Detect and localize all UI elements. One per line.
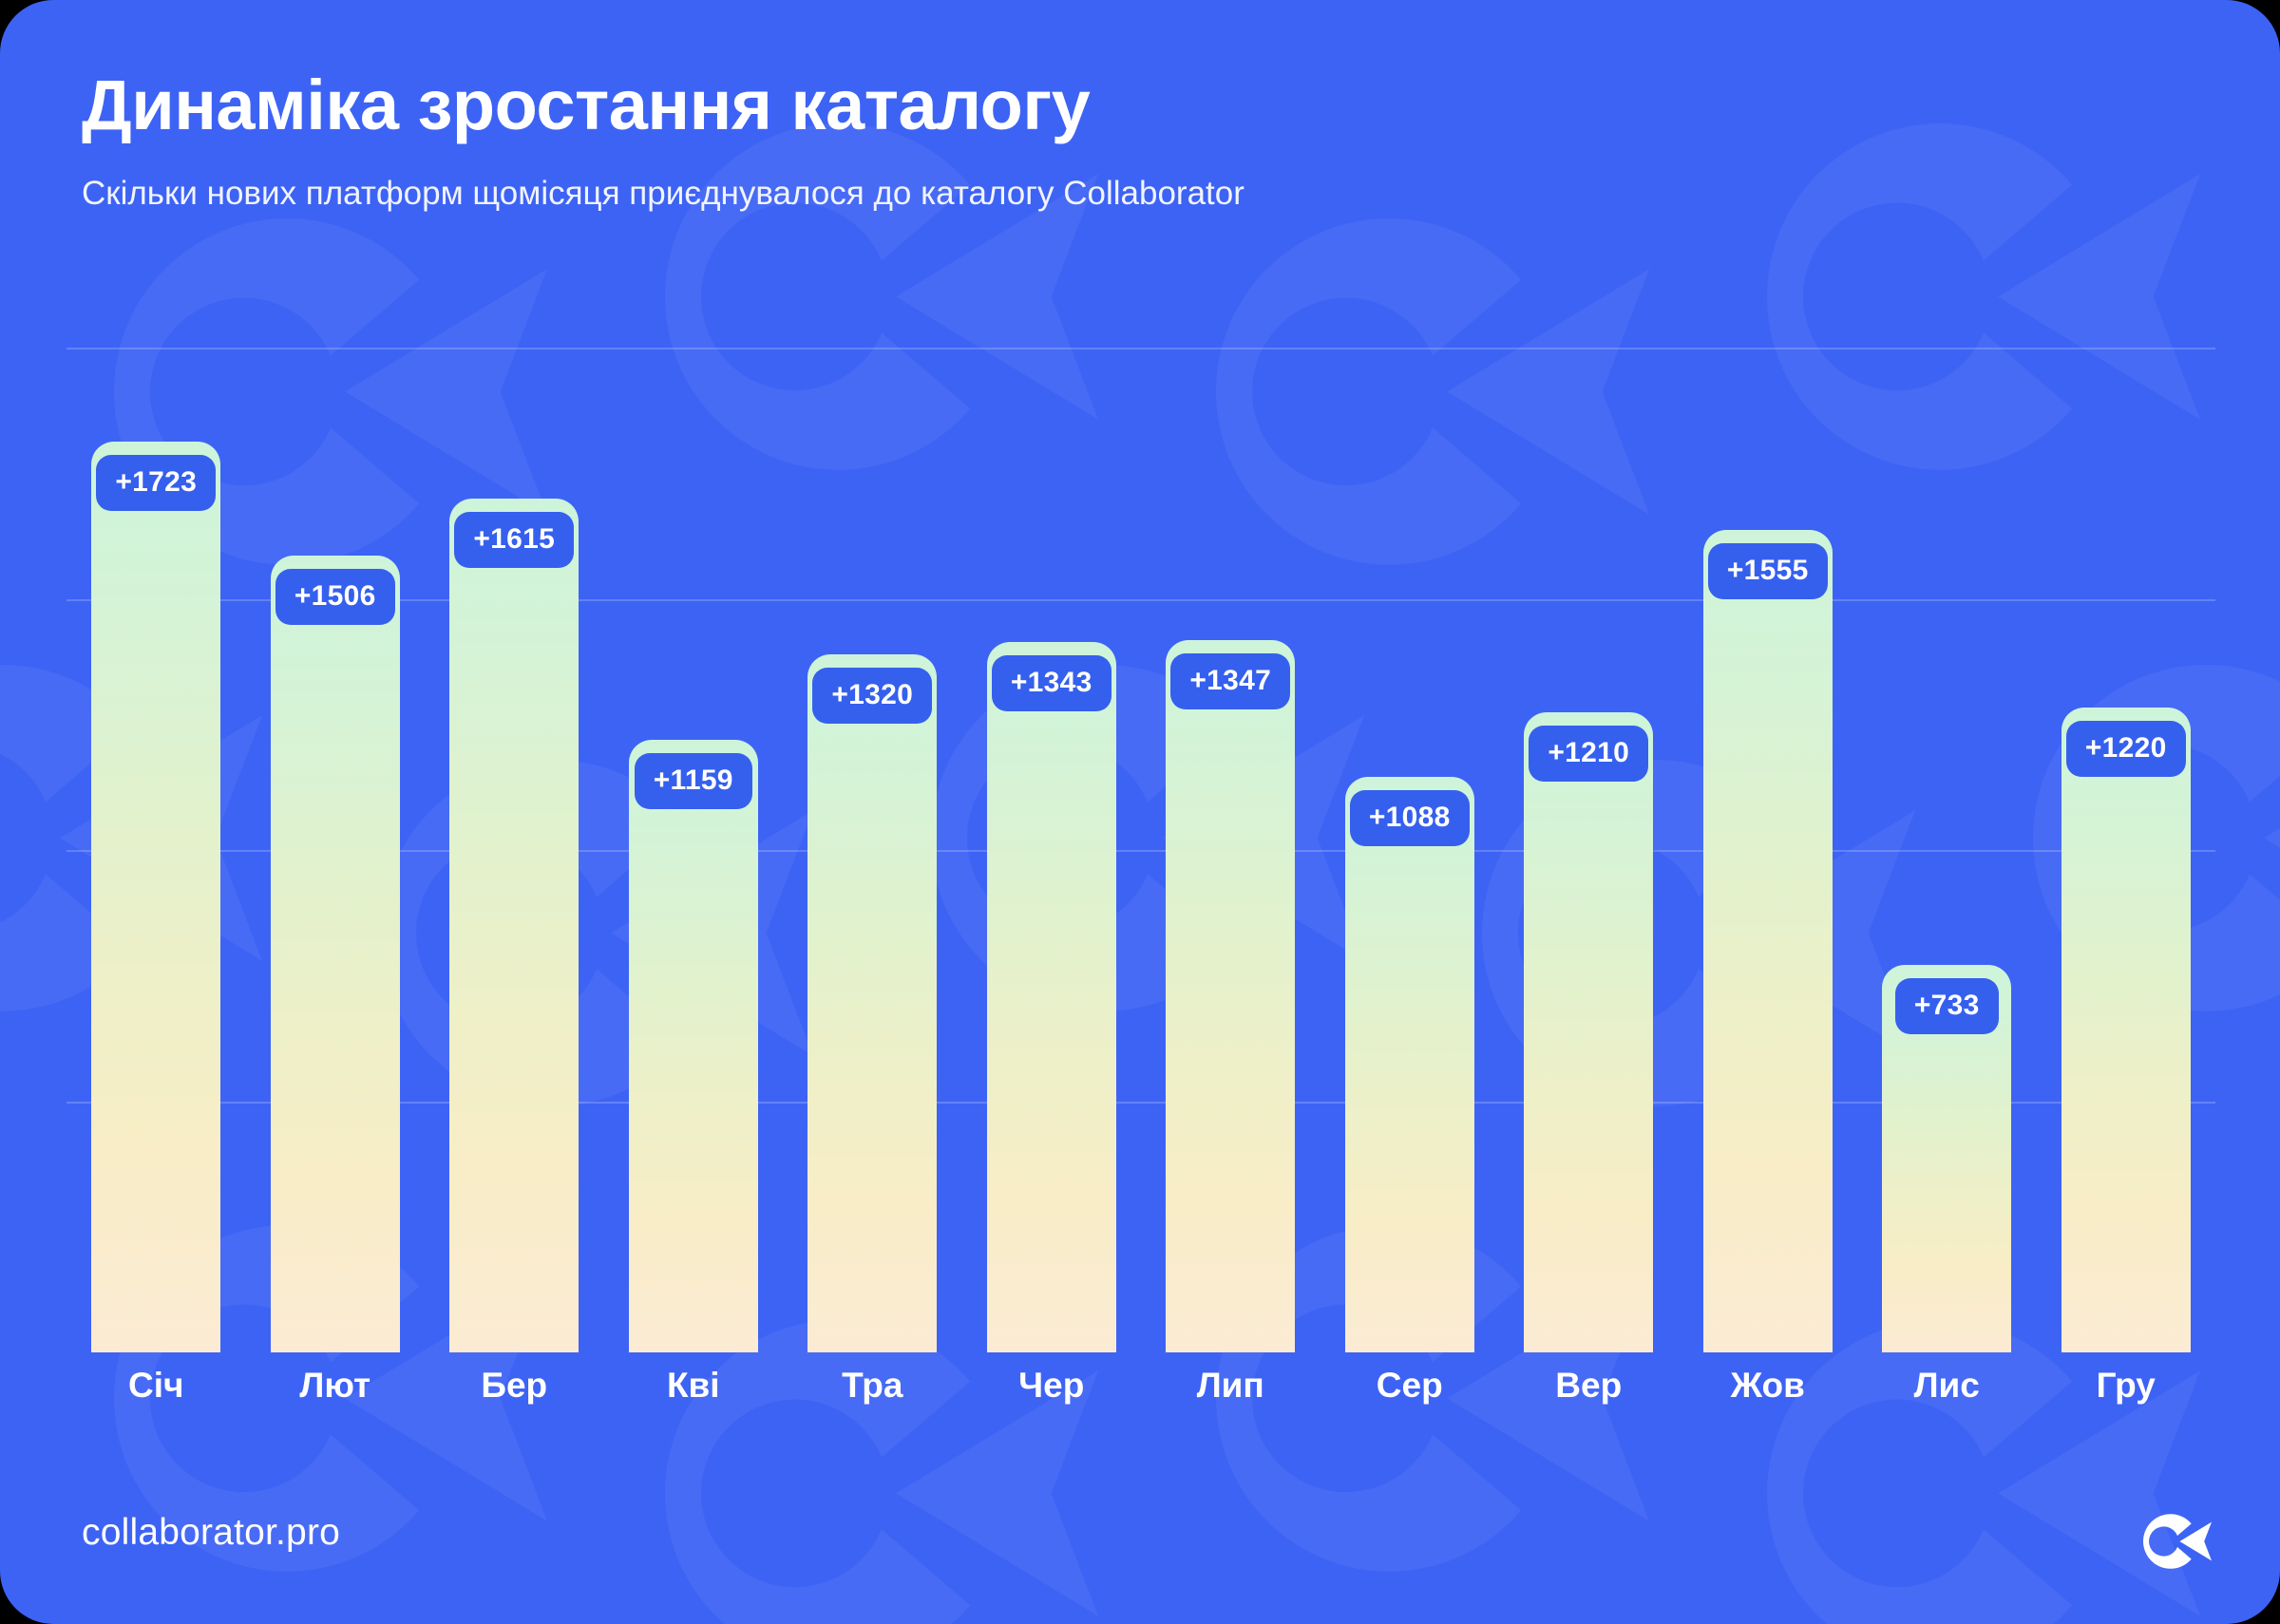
x-axis-labels: СічЛютБерКвіТраЧерЛипСерВерЖовЛисГру bbox=[66, 1366, 2215, 1406]
bar-value-badge: +1506 bbox=[275, 569, 395, 625]
bar[interactable]: +1506 bbox=[271, 556, 400, 1352]
bar[interactable]: +1723 bbox=[91, 442, 220, 1352]
x-axis-label-Сер: Сер bbox=[1320, 1366, 1500, 1406]
x-axis-label-Лис: Лис bbox=[1857, 1366, 2037, 1406]
x-axis-label-Жов: Жов bbox=[1679, 1366, 1858, 1406]
bar[interactable]: +1088 bbox=[1345, 777, 1474, 1352]
bar-value-badge: +1555 bbox=[1708, 543, 1828, 599]
x-axis-label-Тра: Тра bbox=[783, 1366, 962, 1406]
page-title: Динаміка зростання каталогу bbox=[82, 68, 2210, 142]
bar-value-badge: +1320 bbox=[812, 668, 932, 724]
bar-slot: +1343 bbox=[962, 348, 1142, 1352]
bar-value-badge: +1723 bbox=[96, 455, 216, 511]
bar[interactable]: +1555 bbox=[1703, 530, 1833, 1352]
bar-slot: +1320 bbox=[783, 348, 962, 1352]
bar-slot: +1159 bbox=[604, 348, 784, 1352]
bar-series: +1723+1506+1615+1159+1320+1343+1347+1088… bbox=[66, 348, 2215, 1352]
bar-slot: +1210 bbox=[1499, 348, 1679, 1352]
bar-slot: +733 bbox=[1857, 348, 2037, 1352]
header: Динаміка зростання каталогу Скільки нови… bbox=[82, 68, 2210, 213]
bar-slot: +1506 bbox=[246, 348, 426, 1352]
x-axis-label-Січ: Січ bbox=[66, 1366, 246, 1406]
x-axis-label-Чер: Чер bbox=[962, 1366, 1142, 1406]
bar[interactable]: +1320 bbox=[807, 654, 937, 1352]
bar-value-badge: +733 bbox=[1895, 978, 1999, 1034]
bar-chart-plot-area: +1723+1506+1615+1159+1320+1343+1347+1088… bbox=[66, 348, 2215, 1352]
page-subtitle: Скільки нових платформ щомісяця приєднув… bbox=[82, 175, 2210, 213]
footer-website-url: collaborator.pro bbox=[82, 1512, 340, 1554]
bar-slot: +1615 bbox=[425, 348, 604, 1352]
bar[interactable]: +1615 bbox=[449, 499, 579, 1352]
bar-value-badge: +1088 bbox=[1350, 790, 1470, 846]
bar[interactable]: +1343 bbox=[987, 642, 1116, 1352]
x-axis-label-Кві: Кві bbox=[604, 1366, 784, 1406]
x-axis-label-Бер: Бер bbox=[425, 1366, 604, 1406]
bar[interactable]: +733 bbox=[1882, 965, 2011, 1352]
x-axis-label-Гру: Гру bbox=[2037, 1366, 2216, 1406]
x-axis-label-Лют: Лют bbox=[246, 1366, 426, 1406]
bar-slot: +1088 bbox=[1320, 348, 1500, 1352]
bar-value-badge: +1343 bbox=[992, 655, 1111, 711]
bar-value-badge: +1347 bbox=[1170, 653, 1290, 709]
bar-slot: +1555 bbox=[1679, 348, 1858, 1352]
bar[interactable]: +1210 bbox=[1524, 712, 1653, 1352]
bar[interactable]: +1159 bbox=[629, 740, 758, 1352]
collaborator-c-arrow-logo-icon bbox=[2143, 1504, 2217, 1578]
bar[interactable]: +1220 bbox=[2061, 708, 2191, 1352]
bar-value-badge: +1210 bbox=[1529, 726, 1648, 782]
bar-value-badge: +1159 bbox=[635, 753, 752, 809]
x-axis-label-Лип: Лип bbox=[1141, 1366, 1320, 1406]
x-axis-label-Вер: Вер bbox=[1499, 1366, 1679, 1406]
bar-value-badge: +1220 bbox=[2066, 721, 2186, 777]
infographic-card: Динаміка зростання каталогу Скільки нови… bbox=[0, 0, 2280, 1624]
bar[interactable]: +1347 bbox=[1166, 640, 1295, 1352]
bar-slot: +1220 bbox=[2037, 348, 2216, 1352]
bar-slot: +1723 bbox=[66, 348, 246, 1352]
bar-slot: +1347 bbox=[1141, 348, 1320, 1352]
bar-value-badge: +1615 bbox=[454, 512, 574, 568]
